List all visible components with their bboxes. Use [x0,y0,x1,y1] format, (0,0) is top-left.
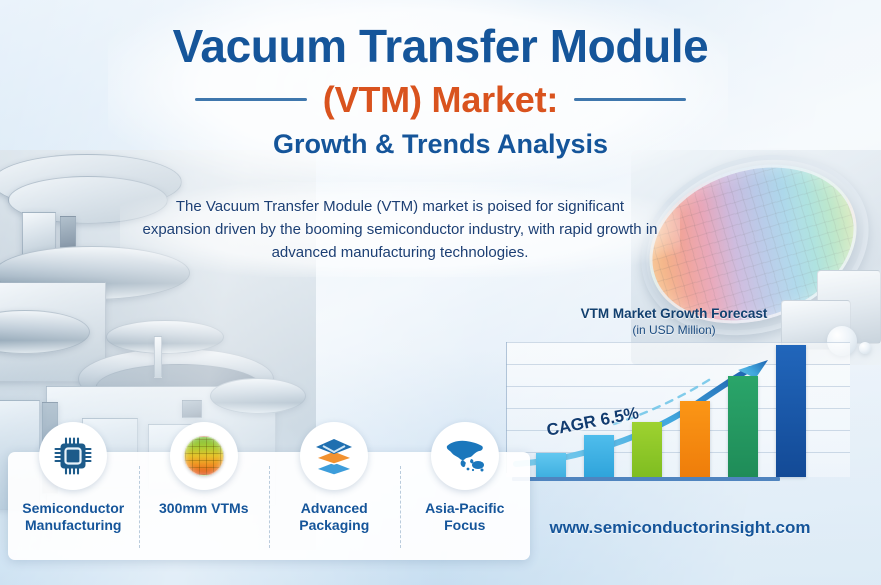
title-rule-left [195,98,307,101]
title-subheading: Growth & Trends Analysis [0,129,881,160]
feature-card-label: AdvancedPackaging [299,500,369,533]
website-url[interactable]: www.semiconductorinsight.com [510,518,850,538]
feature-card-label: SemiconductorManufacturing [22,500,124,533]
asia-map-icon [431,422,499,490]
feature-card-300mm-vtms[interactable]: 300mm VTMs [139,452,270,560]
layers-icon [300,422,368,490]
feature-card-label: Asia-PacificFocus [425,500,504,533]
description-text: The Vacuum Transfer Module (VTM) market … [140,196,660,264]
page-title: Vacuum Transfer Module [0,22,881,71]
wafer-icon [170,422,238,490]
feature-card-semiconductor-manufacturing[interactable]: SemiconductorManufacturing [8,452,139,560]
vtm-market-infographic: Vacuum Transfer Module (VTM) Market: Gro… [0,0,881,585]
feature-card-asia-pacific-focus[interactable]: Asia-PacificFocus [400,452,531,560]
chart-bar [776,345,806,477]
market-forecast-chart: VTM Market Growth Forecast (in USD Milli… [498,306,850,488]
feature-card-advanced-packaging[interactable]: AdvancedPackaging [269,452,400,560]
chart-bar [728,376,758,477]
chart-title: VTM Market Growth Forecast [498,306,850,321]
chart-subtitle: (in USD Million) [498,323,850,337]
feature-card-label: 300mm VTMs [159,500,248,517]
headline-block: Vacuum Transfer Module (VTM) Market: Gro… [0,22,881,160]
title-rule-right [574,98,686,101]
microchip-icon [39,422,107,490]
title-accent: (VTM) Market: [323,79,558,121]
chart-bar [680,401,710,477]
chart-bars [506,342,850,477]
chart-bar [632,422,662,477]
chart-bar [584,435,614,477]
title-accent-row: (VTM) Market: [0,79,881,121]
chart-baseline [512,477,780,481]
chart-bar [536,453,566,477]
feature-card-strip: SemiconductorManufacturing 300mm VTMs Ad… [8,452,530,560]
chart-plot-area: CAGR 6.5% [506,342,850,477]
